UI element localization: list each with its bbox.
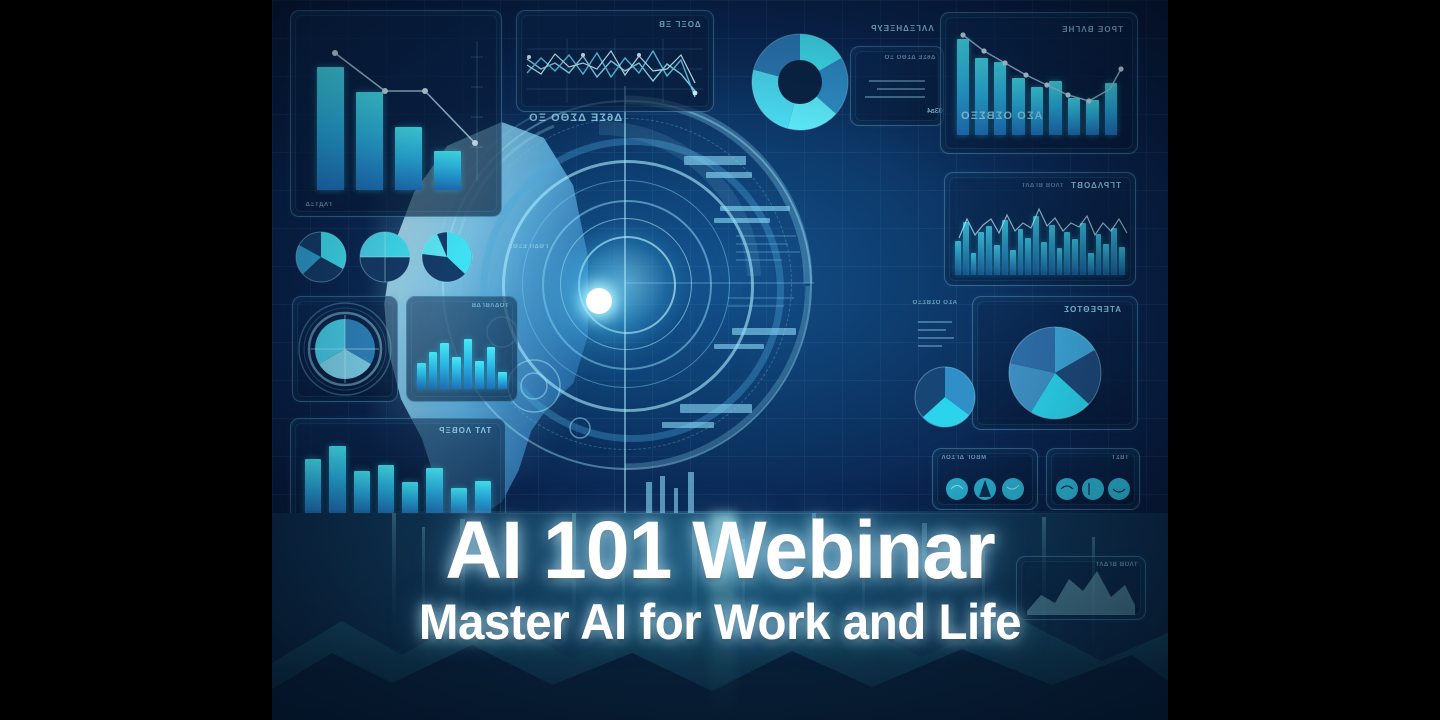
panel-thumbs-right-low[interactable]: ΤΒΣΤ <box>1046 448 1140 510</box>
chart-radial-left <box>293 297 397 401</box>
chart-bars-left-mid <box>417 325 507 389</box>
chart-histogram-line-overlay <box>945 173 1135 285</box>
page-title: AI 101 Webinar <box>290 512 1150 591</box>
chart-minipie-right <box>910 362 980 432</box>
panel-minipies-left[interactable]: ΓΘΔΠ ΕΞΘΞ <box>292 228 498 290</box>
bar <box>475 361 484 389</box>
readout-center-right: ΑΣΟ ΟΣΒΣΞΟ <box>960 110 1043 124</box>
chart-bars-left-low <box>305 437 491 515</box>
chart-line-overlay-topleft <box>291 11 501 216</box>
bar <box>440 343 449 389</box>
legend-swatches <box>912 316 968 356</box>
panel-label-donut-top: ΛΛГΞΔΗΞΕУΡ <box>870 24 934 33</box>
bar <box>354 471 370 515</box>
panel-label-bars-left-mid: ΤΟΔΛΒГΔΒ <box>471 303 509 309</box>
bar <box>378 465 394 515</box>
chart-pie-right <box>973 297 1137 429</box>
panel-pie-right-legend[interactable]: ΑΣΟ ΟΣΒΣΞΟ <box>912 300 968 356</box>
bar <box>487 347 496 389</box>
screenshot-canvas: ΓΛДТΞΔ ΔΟΞΓ ΞΒ <box>0 0 1440 720</box>
bar <box>429 352 438 389</box>
panel-radial-left[interactable] <box>292 296 398 402</box>
bar <box>417 363 426 389</box>
bar <box>464 339 473 389</box>
bar <box>305 459 321 515</box>
hero-artwork: ΓΛДТΞΔ ΔΟΞΓ ΞΒ <box>272 0 1168 720</box>
readout-bars: \u0392\u039f\u0395\u03a4 <box>851 47 943 125</box>
legend-label-pie-right: ΑΣΟ ΟΣΒΣΞΟ <box>912 300 957 306</box>
chart-donut-top <box>740 22 860 142</box>
panel-label-bars-left-low: ΤΛΤ ΛΟΒΞΡ <box>438 426 491 435</box>
panel-multiline-top[interactable]: ΔΟΞΓ ΞΒ <box>516 10 714 112</box>
chart-line-overlay-topright <box>941 13 1137 153</box>
panel-bar-line-topright[interactable]: ТΡΟΕ ΒΛΓΗΕ <box>940 12 1138 154</box>
panel-histogram-right[interactable]: ΤΓΡΛΔΟΒΤ ΤΛΟΒ ΒΓΔΛΤ <box>944 172 1136 286</box>
bar <box>498 372 507 389</box>
chart-minipie-1 <box>294 230 348 284</box>
bar <box>452 357 461 389</box>
page-subtitle: Master AI for Work and Life <box>294 597 1145 647</box>
panel-label-minipies-left: ΓΘΔΠ ΕΞΘΞ <box>508 244 548 250</box>
readout-center-left: Δ6ΣΕ ΔΣΘΟ ΞΟ <box>528 112 622 126</box>
panel-thumbs-left-low[interactable]: ΜΒΟΓ ΔΓΣΟΛ <box>932 448 1038 510</box>
thumb-icons-right <box>1047 449 1139 509</box>
thumb-icons-left <box>933 449 1037 509</box>
hero-title-block: AI 101 Webinar Master AI for Work and Li… <box>272 512 1168 647</box>
bar <box>426 468 442 515</box>
panel-bar-line-topleft[interactable]: ΓΛДТΞΔ <box>290 10 502 217</box>
bar <box>329 446 345 515</box>
chart-minipie-2 <box>358 230 412 284</box>
panel-donut-top[interactable]: ΛΛГΞΔΗΞΕУΡ Δ6ΣΕ ΔΣΘΟ ΞΟ \u0392\u039f\u03… <box>740 18 940 148</box>
panel-pie-right[interactable]: ΑΤΕΡΕΘТΟΣ <box>972 296 1138 430</box>
panel-bars-left-mid[interactable]: ΤΟΔΛΒГΔΒ <box>406 296 518 402</box>
chart-minipie-3 <box>420 230 474 284</box>
panel-readout-donut[interactable]: Δ6ΣΕ ΔΣΘΟ ΞΟ \u0392\u039f\u0395\u03a4 <box>850 46 944 126</box>
chart-multiline-top <box>517 11 713 111</box>
